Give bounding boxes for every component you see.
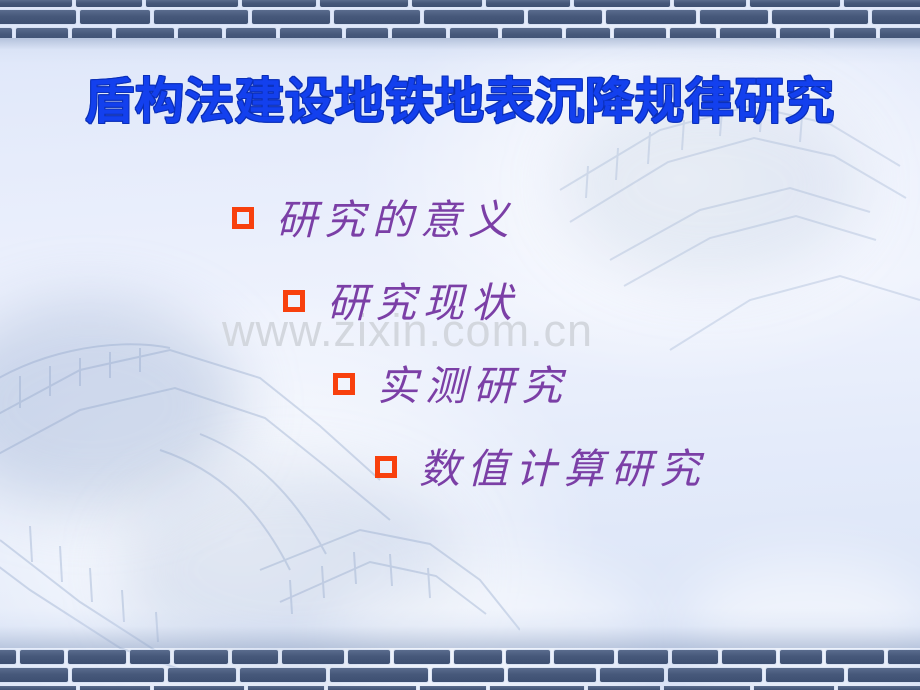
bullet-list: 研究的意义 研究现状 实测研究 数值计算研究 [0,186,920,518]
brick-row-wide [0,668,920,682]
list-item[interactable]: 研究的意义 [0,186,920,246]
brick-row-sliver [0,686,920,690]
list-item-label: 研究现状 [327,269,519,329]
brick-row-sliver [0,0,920,7]
list-item-label: 实测研究 [377,352,569,412]
square-bullet-icon [283,290,305,312]
top-brick-band [0,0,920,38]
list-item[interactable]: 数值计算研究 [0,435,920,495]
list-item[interactable]: 研究现状 [0,269,920,329]
square-bullet-icon [232,207,254,229]
list-item-label: 研究的意义 [276,186,516,246]
presentation-slide: www.zixin.com.cn 盾构法建设地铁地表沉降规律研究 研究的意义 研… [0,0,920,690]
slide-title: 盾构法建设地铁地表沉降规律研究 [0,62,920,133]
square-bullet-icon [333,373,355,395]
list-item-label: 数值计算研究 [419,435,707,495]
square-bullet-icon [375,456,397,478]
bottom-brick-band [0,648,920,690]
list-item[interactable]: 实测研究 [0,352,920,412]
brick-row-narrow [0,650,906,664]
brick-row-narrow [0,28,906,38]
brick-row-wide [0,10,920,24]
